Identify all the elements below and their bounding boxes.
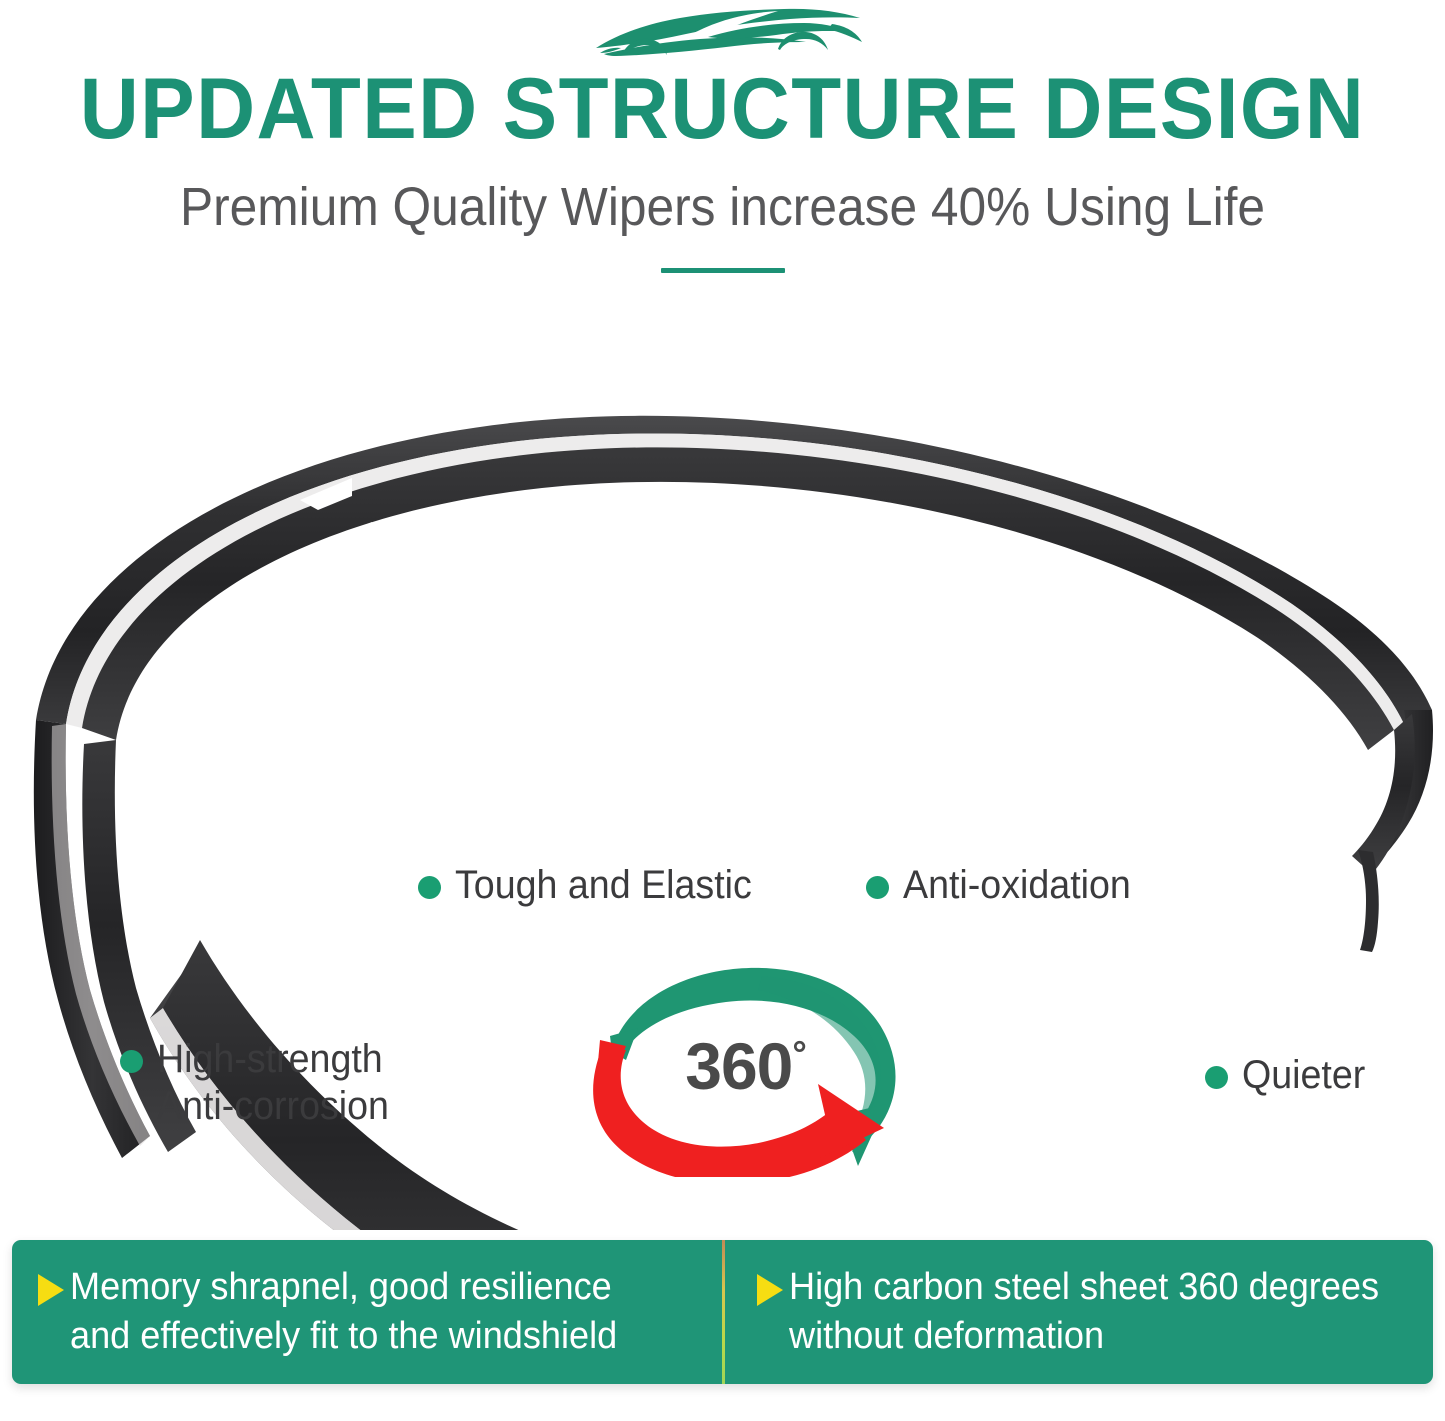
degree-symbol: ° xyxy=(792,1033,806,1074)
triangle-bullet-icon xyxy=(757,1274,783,1306)
title-divider xyxy=(661,268,785,273)
bottom-feature-banner: Memory shrapnel, good resilience and eff… xyxy=(12,1240,1433,1384)
bullet-dot-icon xyxy=(418,876,441,899)
feature-label: Tough and Elastic xyxy=(455,862,752,909)
header-section: UPDATED STRUCTURE DESIGN Premium Quality… xyxy=(0,0,1445,300)
banner-left-text: Memory shrapnel, good resilience and eff… xyxy=(70,1263,617,1361)
badge-value-text: 360° xyxy=(566,1018,926,1102)
page-title: UPDATED STRUCTURE DESIGN xyxy=(36,62,1409,156)
product-image-area: Tough and Elastic Anti-oxidation High-st… xyxy=(0,300,1445,1230)
feature-label: High-strength Anti-corrosion xyxy=(157,1036,389,1130)
triangle-bullet-icon xyxy=(38,1274,64,1306)
feature-high-strength-anti-corrosion: High-strength Anti-corrosion xyxy=(120,1036,404,1130)
page-subtitle: Premium Quality Wipers increase 40% Usin… xyxy=(58,176,1387,238)
sports-car-logo xyxy=(588,4,868,62)
feature-tough-and-elastic: Tough and Elastic xyxy=(418,862,771,909)
feature-label: Quieter xyxy=(1242,1052,1365,1099)
banner-right-text: High carbon steel sheet 360 degrees with… xyxy=(789,1263,1379,1361)
banner-left-item: Memory shrapnel, good resilience and eff… xyxy=(12,1240,723,1384)
feature-anti-oxidation: Anti-oxidation xyxy=(866,862,1145,909)
feature-label: Anti-oxidation xyxy=(903,862,1131,909)
bullet-dot-icon xyxy=(1205,1066,1228,1089)
badge-number: 360 xyxy=(685,1029,792,1103)
bullet-dot-icon xyxy=(120,1050,143,1073)
feature-quieter: Quieter xyxy=(1205,1052,1373,1099)
banner-right-item: High carbon steel sheet 360 degrees with… xyxy=(723,1240,1434,1384)
bullet-dot-icon xyxy=(866,876,889,899)
rotation-360-badge: 360° xyxy=(566,952,926,1177)
